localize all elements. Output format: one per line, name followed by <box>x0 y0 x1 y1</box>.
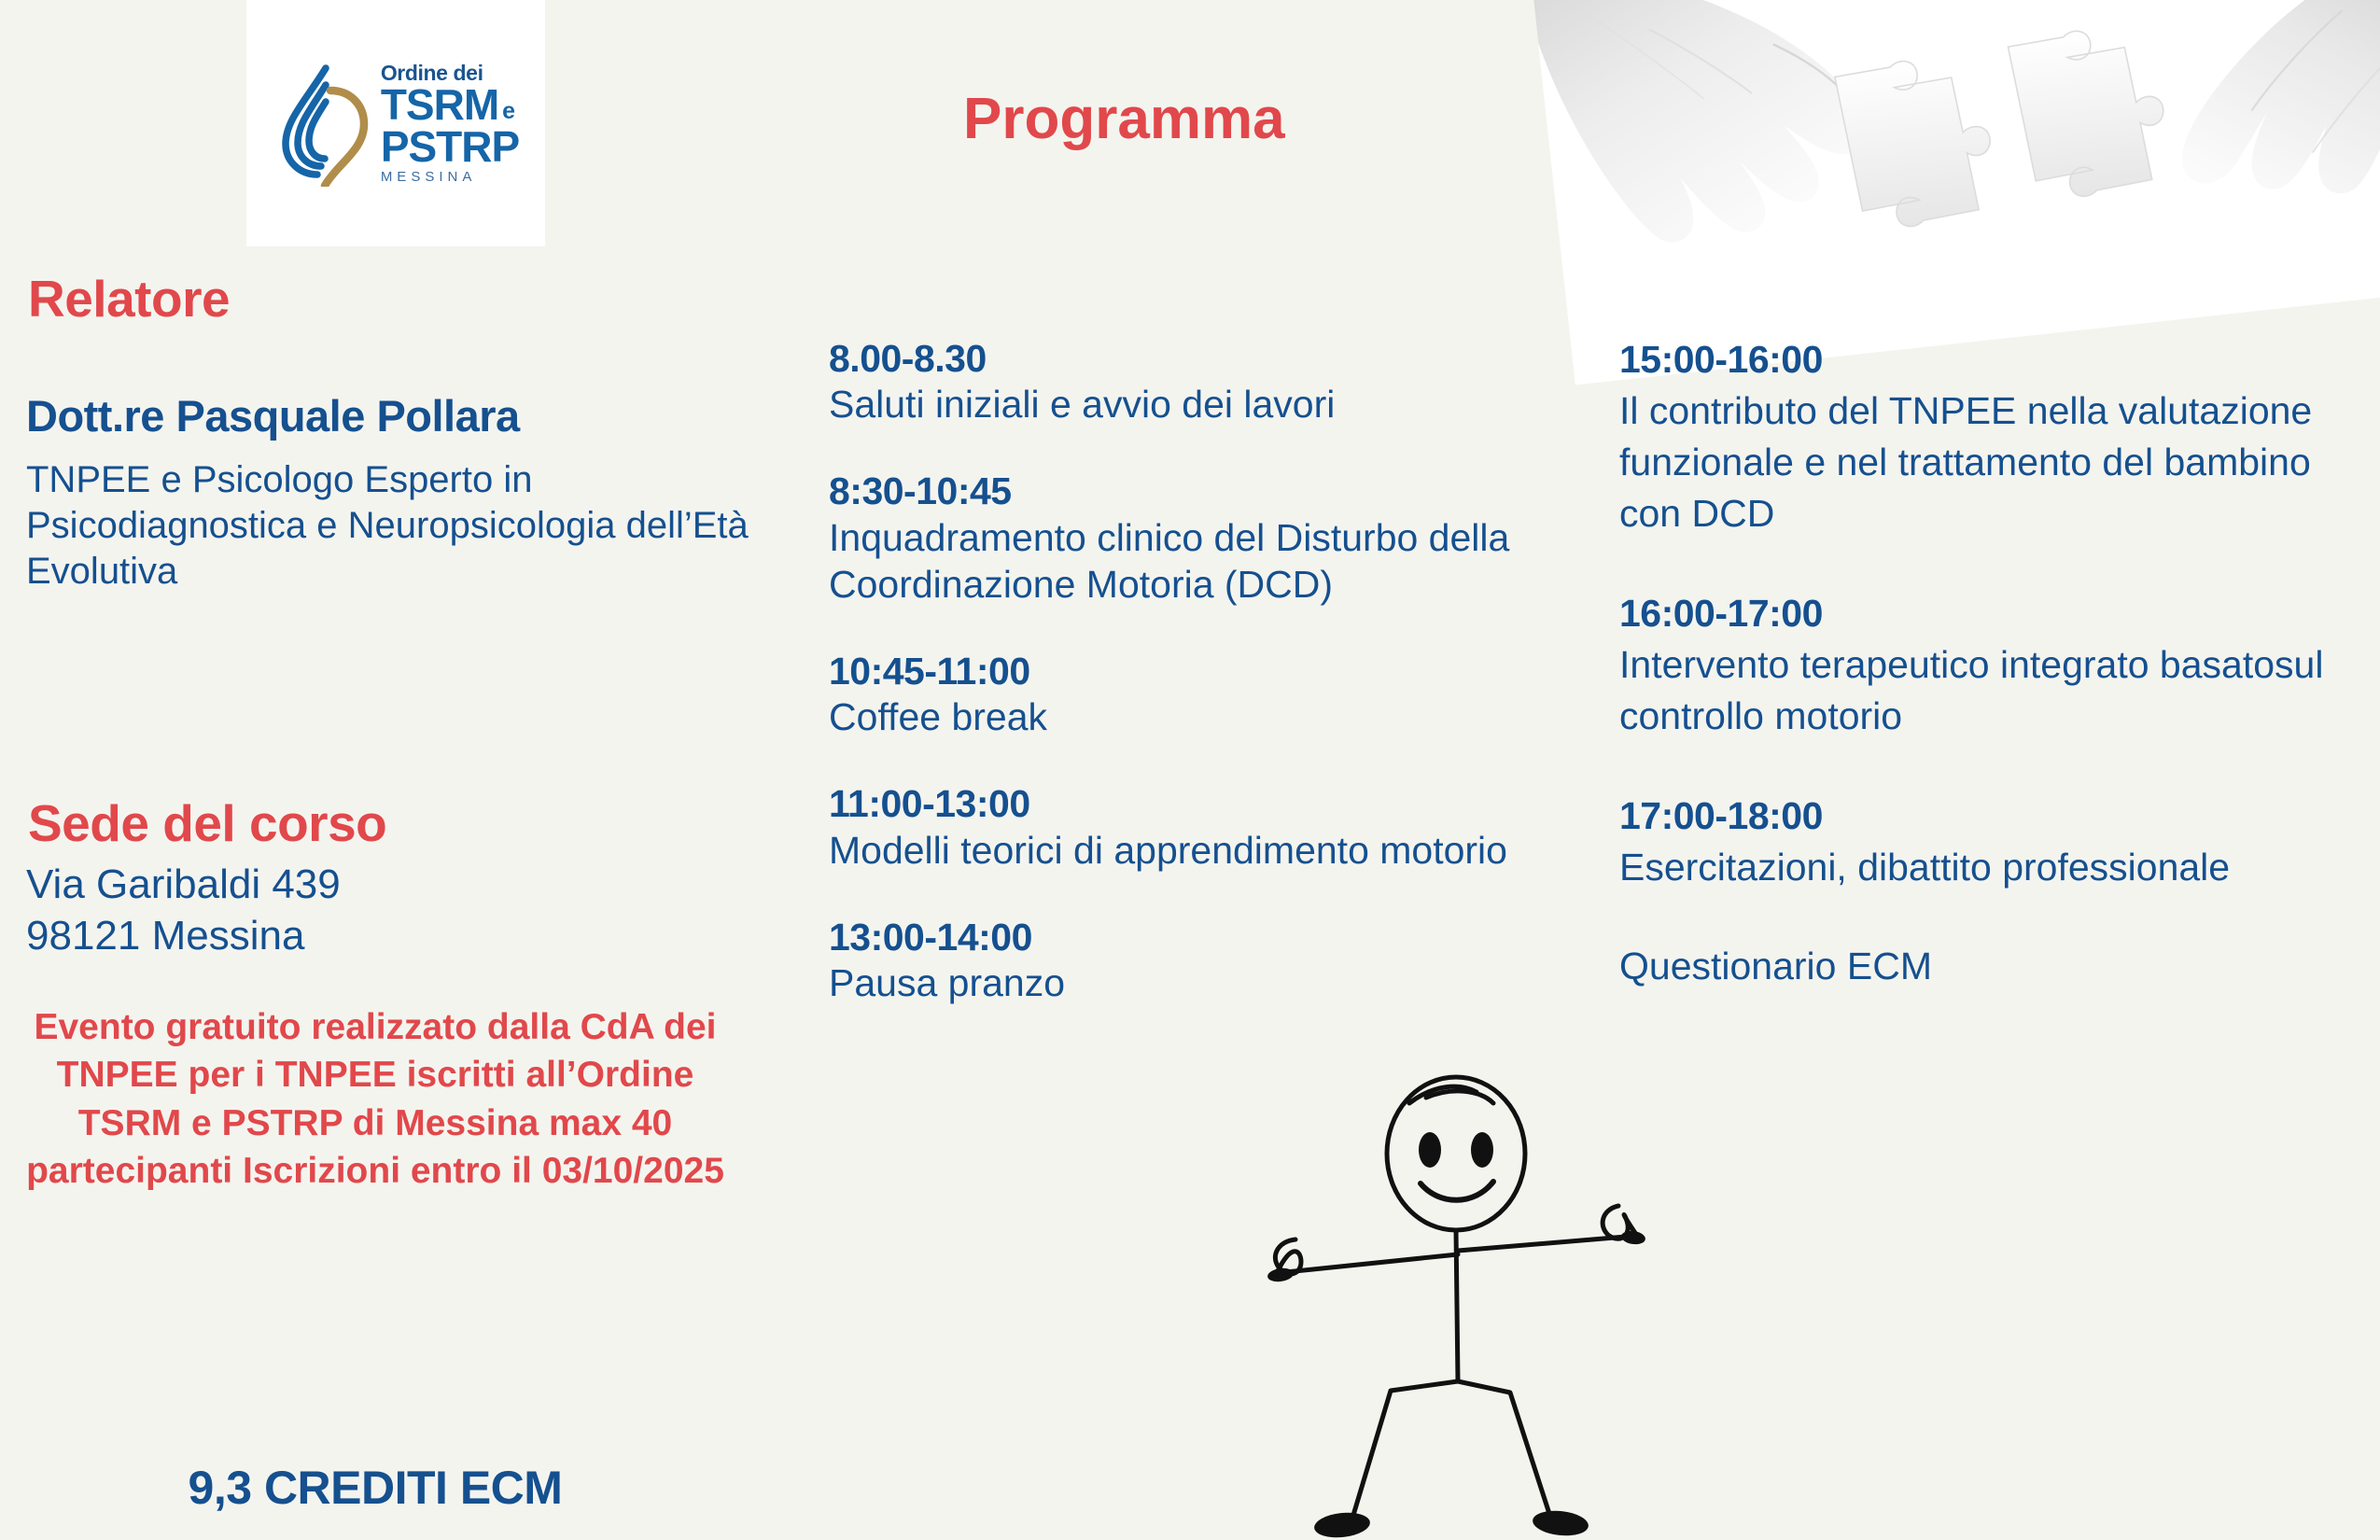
venue-address: Via Garibaldi 439 98121 Messina <box>26 859 773 961</box>
logo-line-pstrp: PSTRP <box>381 126 519 167</box>
schedule-slot-title: Intervento terapeutico integrato basatos… <box>1619 639 2366 742</box>
logo-line-tsrm: TSRM <box>381 84 498 125</box>
schedule-slot: Questionario ECM <box>1619 941 2366 992</box>
event-program-poster: Ordine dei TSRM e PSTRP MESSINA Programm… <box>0 0 2380 1540</box>
hands-puzzle-illustration <box>1532 0 2380 385</box>
schedule-slot: 8:30-10:45Inquadramento clinico del Dist… <box>829 469 1557 607</box>
schedule-slot: 16:00-17:00Intervento terapeutico integr… <box>1619 588 2366 742</box>
schedule-slot-title: Pausa pranzo <box>829 959 1557 1006</box>
schedule-slot: 10:45-11:00Coffee break <box>829 649 1557 740</box>
logo-container: Ordine dei TSRM e PSTRP MESSINA <box>246 0 545 246</box>
speaker-name: Dott.re Pasquale Pollara <box>26 390 520 441</box>
schedule-slot: 11:00-13:00Modelli teorici di apprendime… <box>829 781 1557 873</box>
speaker-heading: Relatore <box>28 269 230 329</box>
venue-address-line-2: 98121 Messina <box>26 910 773 961</box>
schedule-slot-title: Coffee break <box>829 693 1557 740</box>
venue-address-line-1: Via Garibaldi 439 <box>26 859 773 910</box>
schedule-slot-title: Inquadramento clinico del Disturbo della… <box>829 514 1557 608</box>
speaker-role: TNPEE e Psicologo Esperto in Psicodiagno… <box>26 457 773 594</box>
schedule-slot-title: Questionario ECM <box>1619 941 2366 992</box>
schedule-slot-time: 13:00-14:00 <box>829 915 1557 959</box>
ecm-credits-badge: 9,3 CREDITI ECM <box>21 1461 730 1515</box>
schedule-slot-time: 16:00-17:00 <box>1619 588 2366 639</box>
schedule-slot-time: 17:00-18:00 <box>1619 791 2366 842</box>
hands-puzzle-photo <box>1532 0 2380 385</box>
schedule-slot-time: 10:45-11:00 <box>829 649 1557 693</box>
schedule-slot: 8.00-8.30Saluti iniziali e avvio dei lav… <box>829 336 1557 427</box>
schedule-slot: 17:00-18:00Esercitazioni, dibattito prof… <box>1619 791 2366 893</box>
schedule-slot: 15:00-16:00Il contributo del TNPEE nella… <box>1619 334 2366 539</box>
schedule-slot-title: Modelli teorici di apprendimento motorio <box>829 827 1557 874</box>
schedule-slot-time: 8.00-8.30 <box>829 336 1557 381</box>
schedule-slot-title: Saluti iniziali e avvio dei lavori <box>829 381 1557 427</box>
schedule-slot-title: Esercitazioni, dibattito professionale <box>1619 842 2366 893</box>
schedule-column-morning: 8.00-8.30Saluti iniziali e avvio dei lav… <box>829 336 1557 1047</box>
schedule-slot-time: 8:30-10:45 <box>829 469 1557 513</box>
schedule-slot-time: 11:00-13:00 <box>829 781 1557 826</box>
schedule-slot: 13:00-14:00Pausa pranzo <box>829 915 1557 1006</box>
venue-heading: Sede del corso <box>28 793 386 853</box>
page-title: Programma <box>963 86 1285 152</box>
schedule-slot-time: 15:00-16:00 <box>1619 334 2366 385</box>
smiling-stick-figure-icon <box>1260 1064 1652 1540</box>
registration-notice: Evento gratuito realizzato dalla CdA dei… <box>21 1003 730 1196</box>
tsrm-pstrp-mark-icon <box>273 61 375 187</box>
schedule-slot-title: Il contributo del TNPEE nella valutazion… <box>1619 385 2366 539</box>
schedule-column-afternoon: 15:00-16:00Il contributo del TNPEE nella… <box>1619 334 2366 1041</box>
logo-line-city: MESSINA <box>381 170 477 184</box>
